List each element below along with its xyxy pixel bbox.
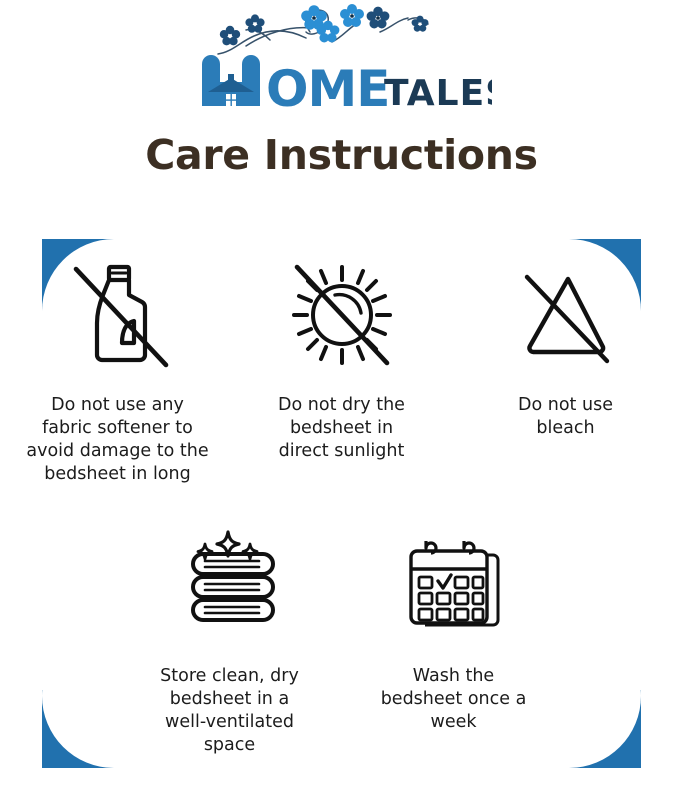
instruction-item-no-fabric-softener: Do not use any fabric softener to avoid … [6, 250, 230, 486]
page-title: Care Instructions [0, 131, 683, 179]
instruction-caption: Wash the bedsheet once a week [381, 665, 527, 734]
brand-logo: OME TALES [0, 0, 683, 118]
instruction-item-store-clean-dry: Store clean, dry bedsheet in a well-vent… [118, 525, 342, 757]
instruction-item-no-bleach: Do not use bleach [454, 250, 678, 486]
instruction-caption: Store clean, dry bedsheet in a well-vent… [160, 665, 299, 757]
no-bleach-triangle-icon [511, 250, 621, 380]
instruction-row-2: Store clean, dry bedsheet in a well-vent… [0, 525, 683, 757]
folded-clean-towels-sparkle-icon [171, 525, 289, 645]
care-instructions-page: OME TALES Care Instructions [0, 0, 683, 800]
instruction-caption: Do not use any fabric softener to avoid … [26, 394, 208, 486]
instruction-row-1: Do not use any fabric softener to avoid … [0, 250, 683, 486]
instruction-caption: Do not use bleach [518, 394, 613, 440]
svg-text:TALES: TALES [384, 73, 492, 110]
no-fabric-softener-bottle-icon [62, 250, 174, 380]
no-direct-sunlight-drying-icon [283, 250, 401, 380]
house-letter-h-icon [202, 55, 260, 106]
svg-text:OME: OME [266, 60, 389, 110]
instruction-caption: Do not dry the bedsheet in direct sunlig… [278, 394, 405, 463]
calendar-weekly-wash-icon [399, 525, 509, 645]
instruction-item-no-direct-sunlight: Do not dry the bedsheet in direct sunlig… [230, 250, 454, 486]
instruction-item-wash-weekly: Wash the bedsheet once a week [342, 525, 566, 757]
brand-wordmark: OME TALES [192, 52, 492, 110]
